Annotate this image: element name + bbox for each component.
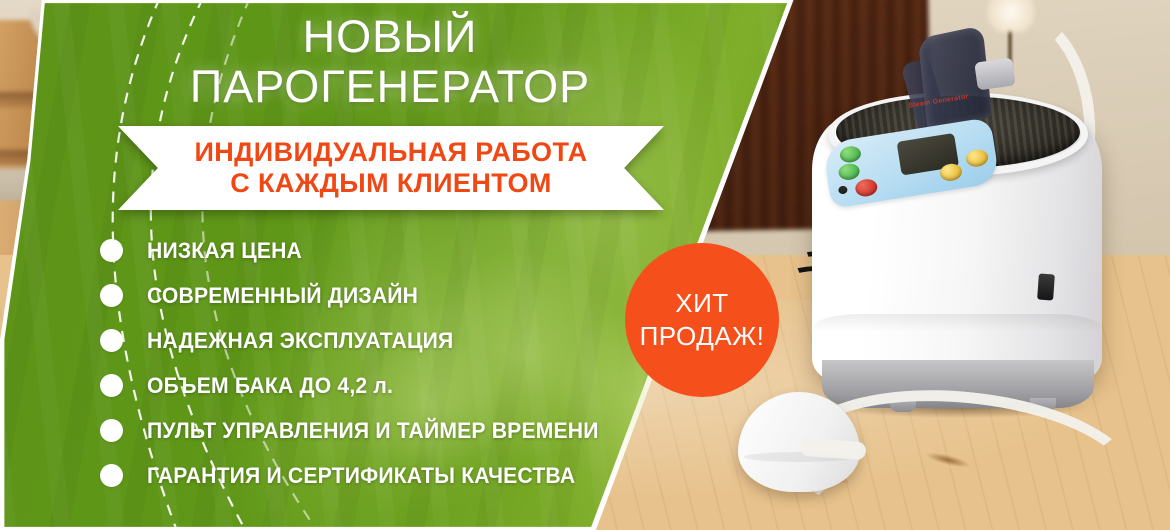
bestseller-badge[interactable]: ХИТ ПРОДАЖ! <box>625 243 779 397</box>
list-item: ГАРАНТИЯ И СЕРТИФИКАТЫ КАЧЕСТВА <box>100 453 700 498</box>
banner-title: НОВЫЙ ПАРОГЕНЕРАТОР <box>90 12 690 112</box>
title-line-2: ПАРОГЕНЕРАТОР <box>90 62 690 112</box>
bullet-dot-icon <box>100 329 123 352</box>
list-item: НИЗКАЯ ЦЕНА <box>100 228 700 273</box>
ribbon-line-1: ИНДИВИДУАЛЬНАЯ РАБОТА <box>194 137 587 168</box>
bullet-dot-icon <box>100 464 123 487</box>
list-item: СОВРЕМЕННЫЙ ДИЗАЙН <box>100 273 700 318</box>
bullet-dot-icon <box>100 239 123 262</box>
ribbon-line-2: С КАЖДЫМ КЛИЕНТОМ <box>230 168 552 199</box>
bullet-dot-icon <box>100 374 123 397</box>
ribbon-text: ИНДИВИДУАЛЬНАЯ РАБОТА С КАЖДЫМ КЛИЕНТОМ <box>118 126 664 210</box>
bullet-dot-icon <box>100 284 123 307</box>
status-led <box>838 185 848 194</box>
feature-list: НИЗКАЯ ЦЕНА СОВРЕМЕННЫЙ ДИЗАЙН НАДЕЖНАЯ … <box>100 228 700 498</box>
badge-line-1: ХИТ <box>675 287 728 320</box>
title-line-1: НОВЫЙ <box>90 12 690 62</box>
promo-banner: Steam Generator НОВЫЙ ПАРОГЕНЕРАТОР ИНДИ… <box>0 0 1170 530</box>
list-item: НАДЕЖНАЯ ЭКСПЛУАТАЦИЯ <box>100 318 700 363</box>
feature-label: ГАРАНТИЯ И СЕРТИФИКАТЫ КАЧЕСТВА <box>147 463 575 489</box>
steam-generator-device: Steam Generator <box>800 78 1120 408</box>
feature-label: ОБЪЕМ БАКА ДО 4,2 л. <box>147 373 393 399</box>
red-power-button[interactable] <box>854 178 878 198</box>
green-button-down[interactable] <box>837 162 860 181</box>
green-button-up[interactable] <box>839 145 862 164</box>
device-seam <box>814 314 1100 340</box>
bullet-dot-icon <box>100 419 123 442</box>
list-item: ПУЛЬТ УПРАВЛЕНИЯ И ТАЙМЕР ВРЕМЕНИ <box>100 408 700 453</box>
list-item: ОБЪЕМ БАКА ДО 4,2 л. <box>100 363 700 408</box>
feature-label: НАДЕЖНАЯ ЭКСПЛУАТАЦИЯ <box>147 328 453 354</box>
ribbon-banner: ИНДИВИДУАЛЬНАЯ РАБОТА С КАЖДЫМ КЛИЕНТОМ <box>118 126 664 210</box>
feature-label: НИЗКАЯ ЦЕНА <box>147 238 302 264</box>
feature-label: СОВРЕМЕННЫЙ ДИЗАЙН <box>147 283 418 309</box>
feature-label: ПУЛЬТ УПРАВЛЕНИЯ И ТАЙМЕР ВРЕМЕНИ <box>147 418 599 444</box>
badge-line-2: ПРОДАЖ! <box>640 320 765 353</box>
yellow-button-two[interactable] <box>965 148 989 168</box>
steam-nozzle-port <box>974 57 1016 90</box>
power-switch[interactable] <box>1037 273 1055 300</box>
